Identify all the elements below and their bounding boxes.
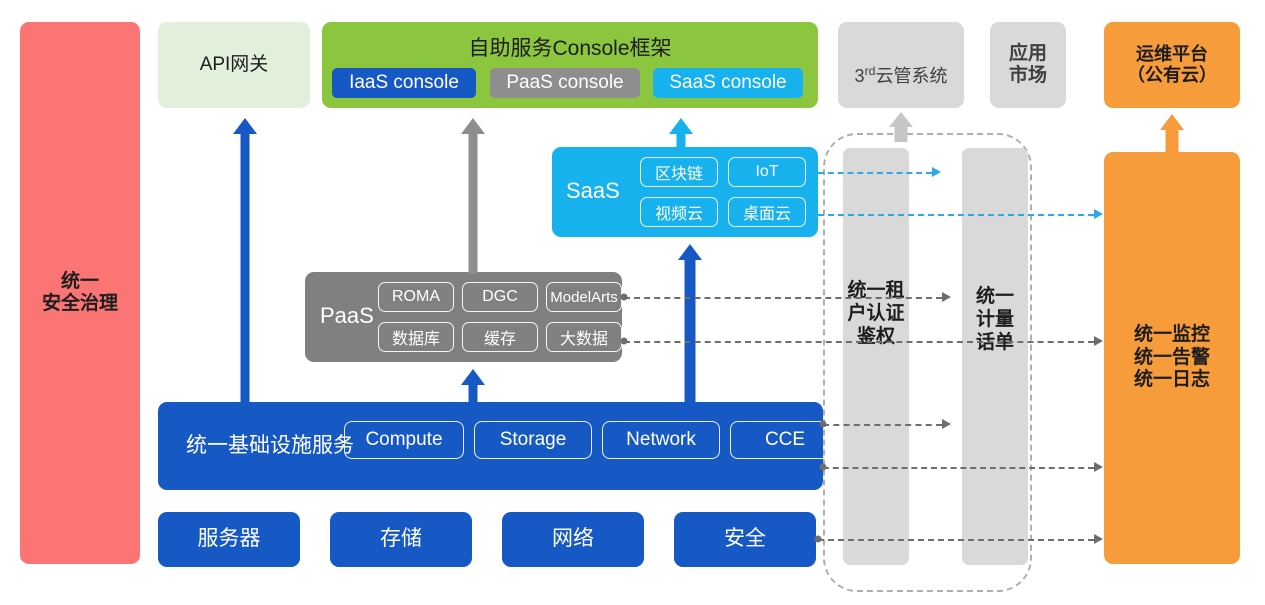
paas-service-database[interactable]: 数据库	[378, 322, 454, 352]
dash-arrowhead-hardware-ops	[1094, 534, 1103, 544]
paas-console-label: PaaS console	[506, 72, 623, 94]
paas-service-cache[interactable]: 缓存	[462, 322, 538, 352]
dash-iaas-to-auth	[823, 424, 942, 426]
third-party-cloud-mgmt-label: 3rd云管系统	[855, 43, 948, 87]
arrow-iaas-to-paas	[459, 369, 487, 405]
paas-service-modelarts[interactable]: ModelArts	[546, 282, 622, 312]
paas-service-roma[interactable]: ROMA	[378, 282, 454, 312]
arrow-iaas-to-api-gateway	[231, 118, 259, 404]
arrow-saas-to-console	[667, 118, 695, 150]
saas-console-label: SaaS console	[669, 72, 786, 94]
iaas-service-compute[interactable]: Compute	[344, 421, 464, 459]
dash-saas-to-ops	[818, 214, 1094, 216]
iaas-console-pill[interactable]: IaaS console	[332, 68, 476, 98]
unified-tenant-auth-column[interactable]	[843, 148, 909, 565]
third-party-cloud-mgmt-box[interactable]: 3rd云管系统	[838, 22, 964, 108]
iaas-layer-panel[interactable]: 统一基础设施服务 Compute Storage Network CCE	[158, 402, 823, 490]
unified-metering-label: 统一 计量 话单	[962, 285, 1028, 355]
unified-metering-column[interactable]	[962, 148, 1028, 565]
arrow-iaas-to-saas	[676, 244, 704, 405]
paas-service-dgc[interactable]: DGC	[462, 282, 538, 312]
paas-console-pill[interactable]: PaaS console	[490, 68, 640, 98]
saas-layer-label: SaaS	[566, 178, 620, 204]
iaas-console-label: IaaS console	[349, 72, 459, 94]
api-gateway-box[interactable]: API网关	[158, 22, 310, 108]
hardware-item-server[interactable]: 服务器	[158, 512, 300, 567]
dash-saas-to-metering	[818, 172, 932, 174]
arrow-ops-to-platform	[1158, 114, 1186, 152]
dash-hardware-to-ops	[818, 539, 1094, 541]
dash-arrowhead-saas-ops	[1094, 209, 1103, 219]
saas-console-pill[interactable]: SaaS console	[653, 68, 803, 98]
saas-service-blockchain[interactable]: 区块链	[640, 157, 718, 187]
app-market-label: 应用 市场	[1009, 43, 1047, 88]
iaas-layer-label: 统一基础设施服务	[186, 429, 354, 459]
iaas-service-storage[interactable]: Storage	[474, 421, 592, 459]
dash-paas-to-ops	[624, 341, 1094, 343]
iaas-service-network[interactable]: Network	[602, 421, 720, 459]
dash-arrowhead-iaas-auth	[942, 419, 951, 429]
dash-arrowhead-paas-auth	[942, 292, 951, 302]
dash-arrowhead-saas-metering	[932, 167, 941, 177]
console-framework-panel[interactable]: 自助服务Console框架 IaaS console PaaS console …	[322, 22, 818, 108]
paas-layer-label: PaaS	[320, 303, 374, 329]
saas-service-desktop-cloud[interactable]: 桌面云	[728, 197, 806, 227]
saas-service-video-cloud[interactable]: 视频云	[640, 197, 718, 227]
hardware-item-storage[interactable]: 存储	[330, 512, 472, 567]
hardware-item-security[interactable]: 安全	[674, 512, 816, 567]
hardware-item-network[interactable]: 网络	[502, 512, 644, 567]
saas-service-iot[interactable]: IoT	[728, 157, 806, 187]
app-market-box[interactable]: 应用 市场	[990, 22, 1066, 108]
architecture-diagram: 统一 安全治理 API网关 自助服务Console框架 IaaS console…	[0, 0, 1265, 605]
ops-platform-public-cloud-label: 运维平台 （公有云）	[1127, 44, 1217, 86]
unified-tenant-auth-label: 统一租 户认证 鉴权	[843, 279, 909, 349]
ops-platform-public-cloud-box[interactable]: 运维平台 （公有云）	[1104, 22, 1240, 108]
dash-arrowhead-iaas-ops	[1094, 462, 1103, 472]
unified-monitoring-label: 统一监控 统一告警 统一日志	[1134, 324, 1210, 391]
saas-layer-panel[interactable]: SaaS 区块链 IoT 视频云 桌面云	[552, 147, 818, 237]
console-framework-title: 自助服务Console框架	[322, 32, 818, 62]
arrow-paas-to-console	[459, 118, 487, 274]
api-gateway-label: API网关	[200, 54, 269, 76]
paas-layer-panel[interactable]: PaaS ROMA DGC ModelArts 数据库 缓存 大数据	[305, 272, 622, 362]
dash-iaas-to-ops	[823, 467, 1094, 469]
arrow-zone-to-third-party	[887, 112, 915, 142]
dash-arrowhead-paas-ops	[1094, 336, 1103, 346]
security-governance-panel[interactable]: 统一 安全治理	[20, 22, 140, 564]
unified-monitoring-panel[interactable]: 统一监控 统一告警 统一日志	[1104, 152, 1240, 564]
dash-paas-to-auth	[624, 297, 942, 299]
paas-service-bigdata[interactable]: 大数据	[546, 322, 622, 352]
security-governance-label: 统一 安全治理	[42, 271, 118, 316]
